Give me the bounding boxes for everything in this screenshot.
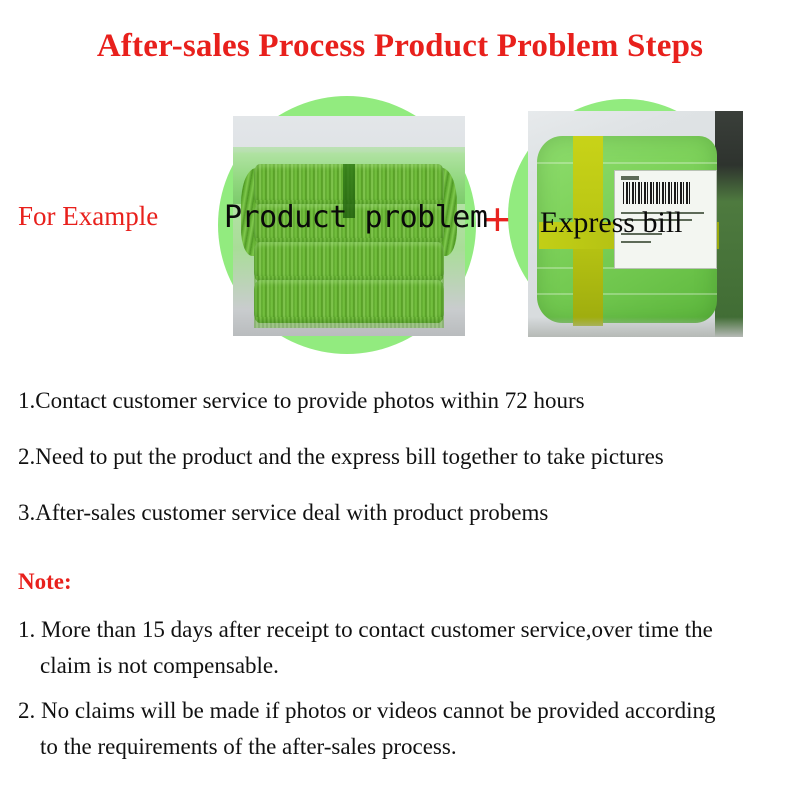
note-list: 1. More than 15 days after receipt to co… bbox=[18, 612, 790, 775]
note-item-line1: No claims will be made if photos or vide… bbox=[41, 698, 716, 723]
example-section: For Example + bbox=[0, 96, 800, 358]
step-item: 2.Need to put the product and the expres… bbox=[18, 444, 788, 470]
coat-tier bbox=[254, 280, 444, 323]
note-item-number: 1. bbox=[18, 617, 35, 642]
coat-tier bbox=[254, 242, 444, 282]
label-header-tag bbox=[621, 176, 639, 181]
note-item-line2: claim is not compensable. bbox=[18, 648, 790, 684]
page-title: After-sales Process Product Problem Step… bbox=[0, 28, 800, 65]
step-item: 3.After-sales customer service deal with… bbox=[18, 500, 788, 526]
barcode-icon bbox=[623, 182, 690, 203]
plus-icon: + bbox=[484, 196, 511, 242]
step-item: 1.Contact customer service to provide ph… bbox=[18, 388, 788, 414]
bag-wrinkle bbox=[537, 162, 718, 164]
label-text-line bbox=[621, 241, 651, 243]
note-item: 1. More than 15 days after receipt to co… bbox=[18, 612, 790, 683]
bag-wrinkle bbox=[537, 293, 718, 295]
note-item-number: 2. bbox=[18, 698, 35, 723]
note-heading: Note: bbox=[18, 569, 72, 595]
product-problem-caption: Product problem bbox=[224, 200, 487, 235]
steps-list: 1.Contact customer service to provide ph… bbox=[18, 388, 788, 556]
note-item-line2: to the requirements of the after-sales p… bbox=[18, 729, 790, 765]
photo-bottom-shadow bbox=[528, 317, 743, 337]
note-item: 2. No claims will be made if photos or v… bbox=[18, 693, 790, 764]
express-bill-caption: Express bill bbox=[540, 206, 683, 240]
for-example-label: For Example bbox=[18, 201, 158, 232]
note-item-line1: More than 15 days after receipt to conta… bbox=[41, 617, 713, 642]
fur-coat-graphic bbox=[254, 164, 444, 322]
